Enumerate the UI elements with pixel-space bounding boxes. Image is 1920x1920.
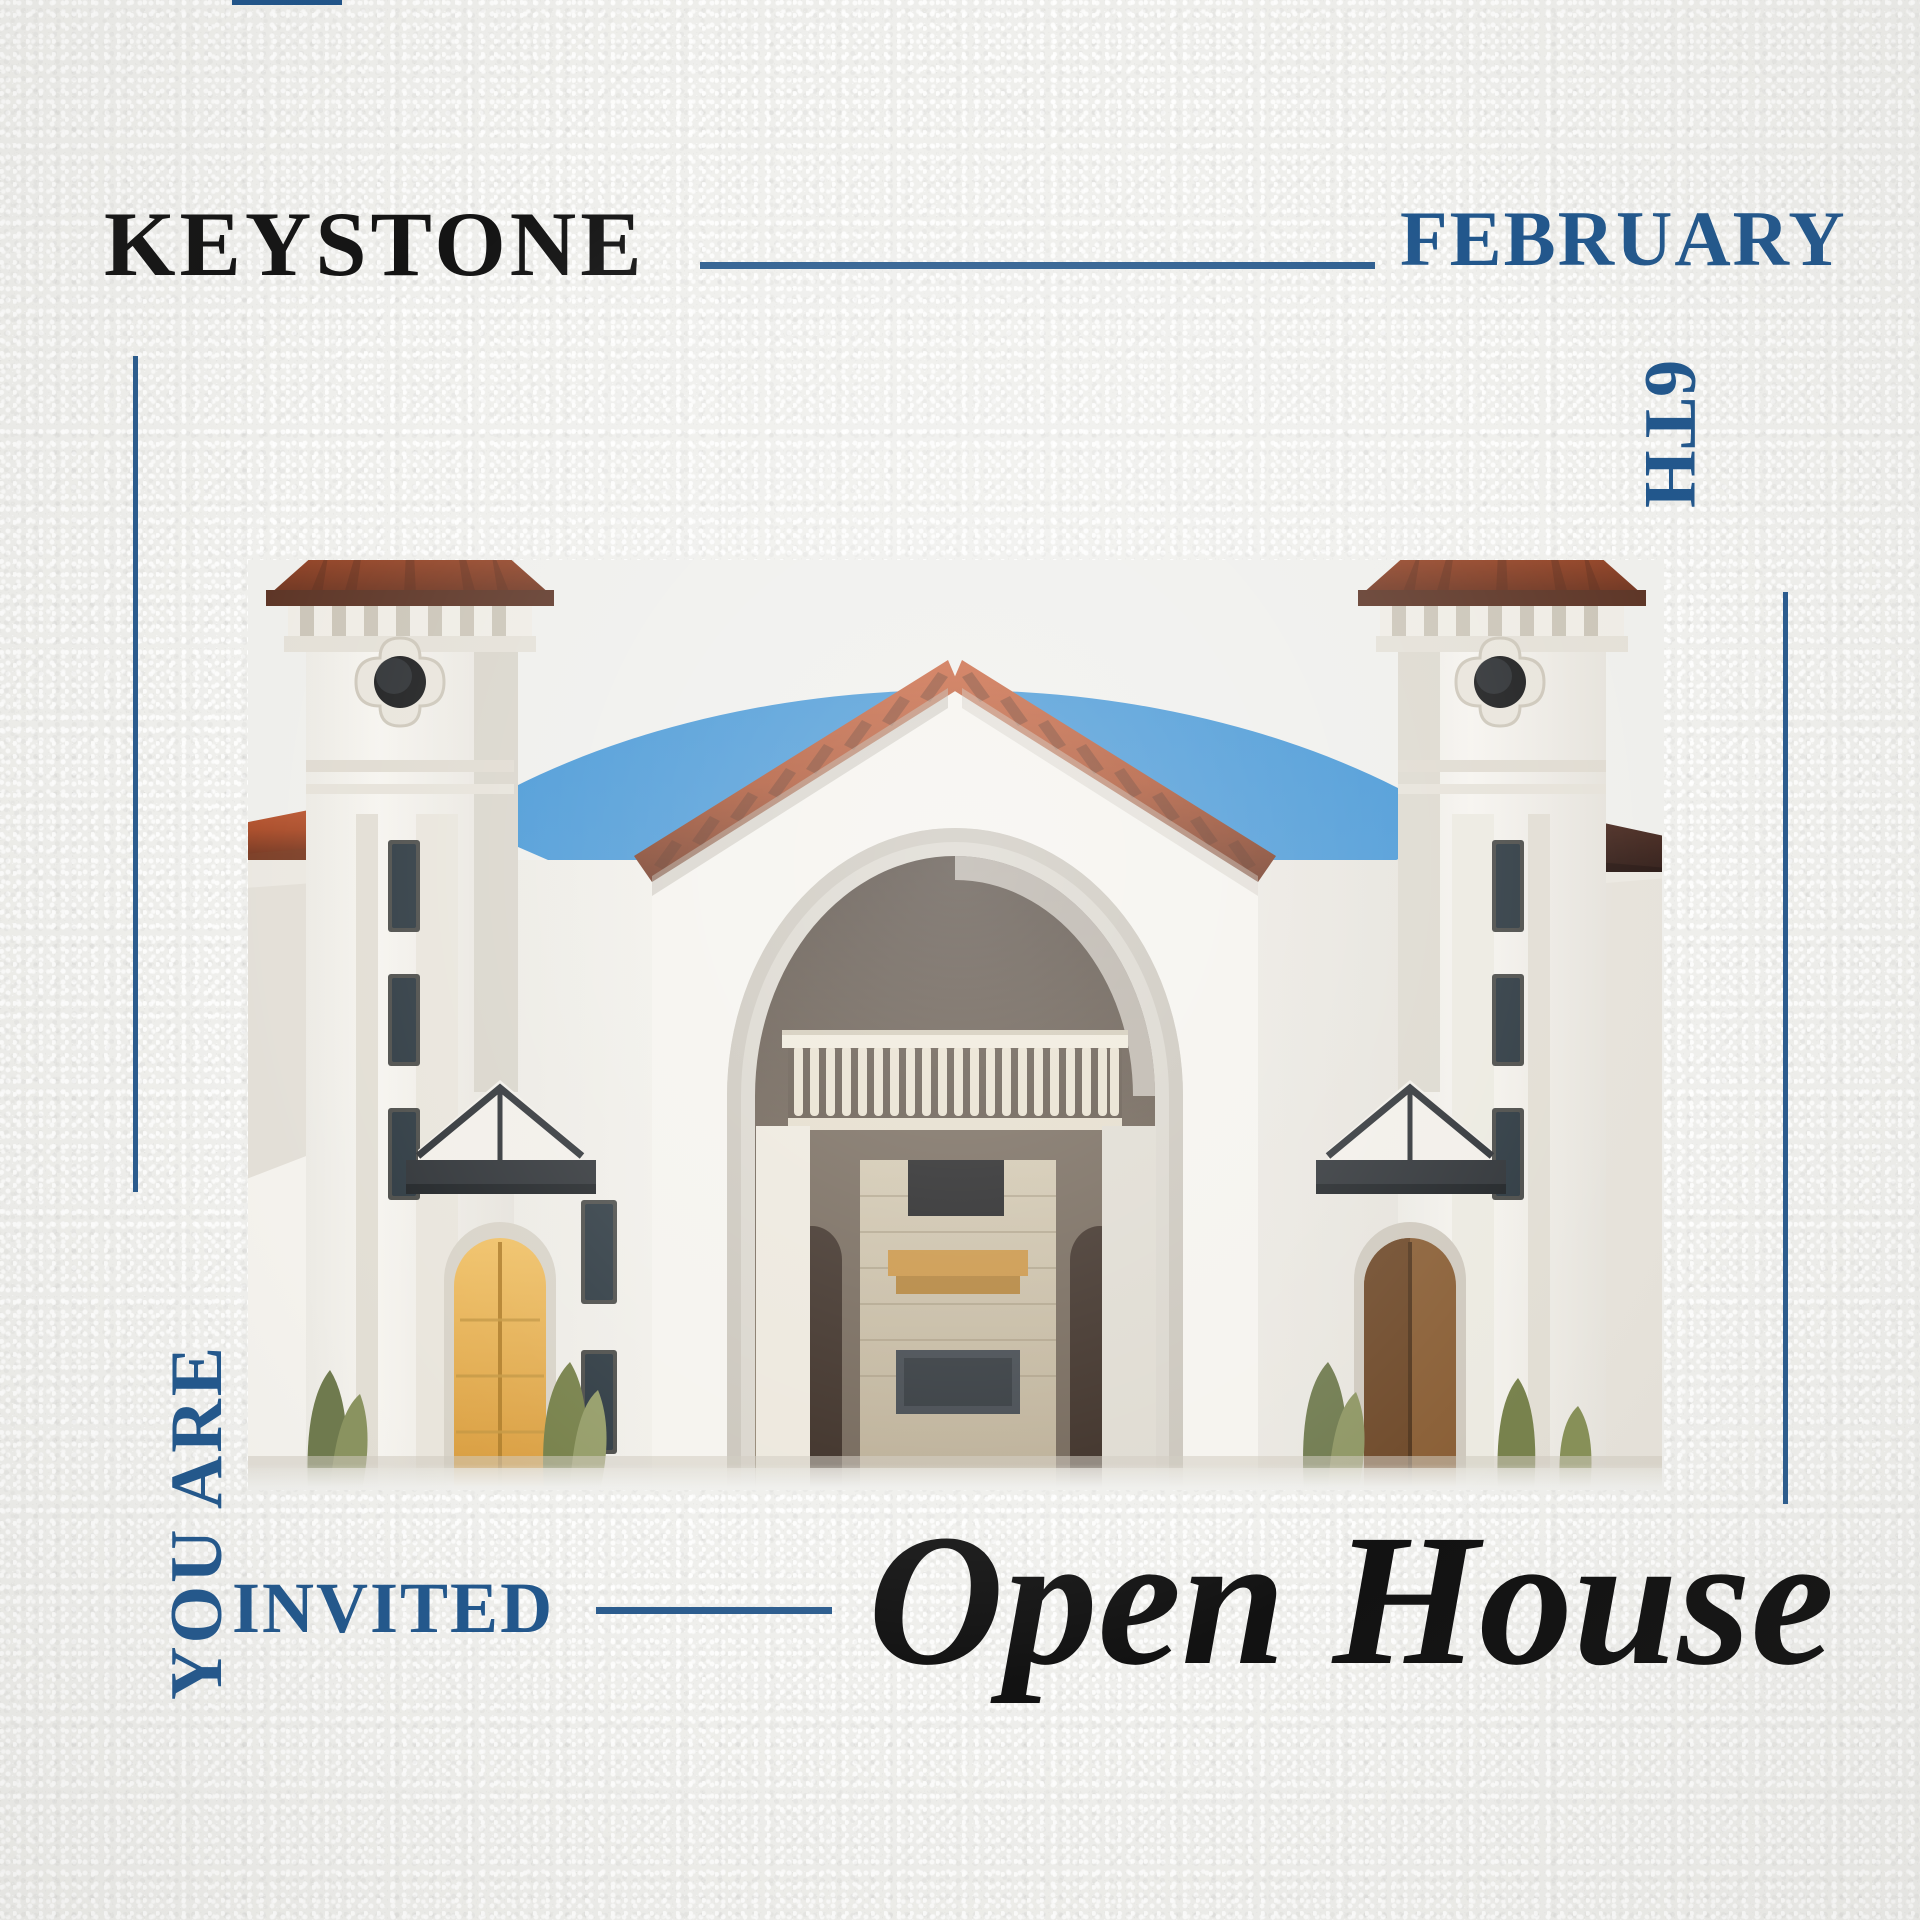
property-photo — [248, 560, 1662, 1490]
header-divider-rule — [700, 262, 1375, 269]
event-month: FEBRUARY — [1400, 200, 1847, 278]
open-house-headline: Open House — [868, 1506, 1834, 1694]
footer-divider-rule — [596, 1607, 832, 1614]
invited-label: INVITED — [232, 1572, 554, 1644]
top-edge-bar-fragment — [232, 0, 342, 5]
left-vertical-rule — [133, 356, 138, 1192]
you-are-label: YOU ARE — [160, 1344, 234, 1700]
right-vertical-rule — [1783, 592, 1788, 1504]
brand-title: KEYSTONE — [104, 198, 646, 290]
event-day: 6TH — [1633, 360, 1707, 510]
